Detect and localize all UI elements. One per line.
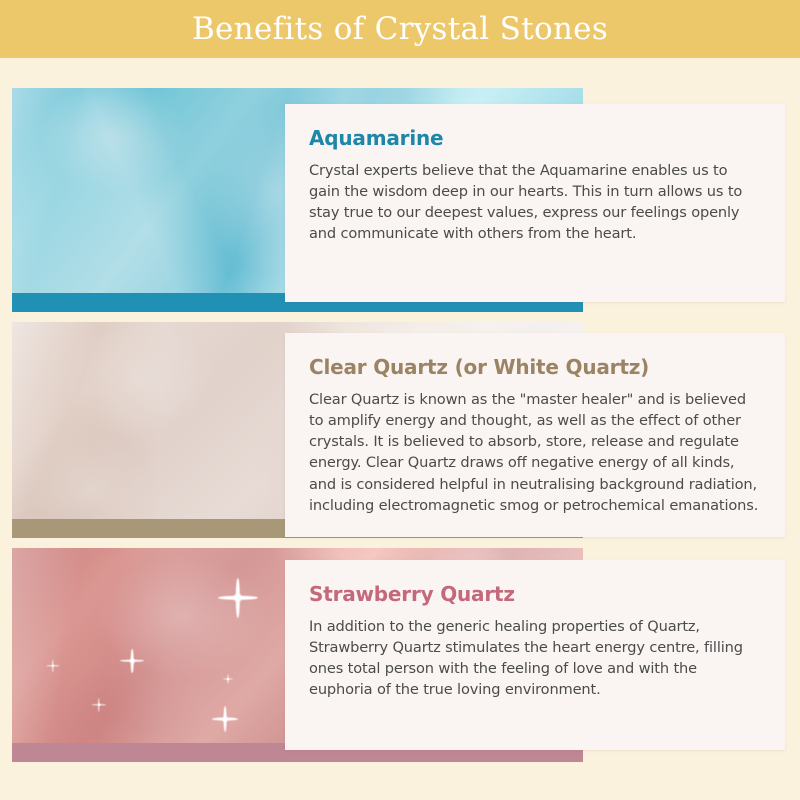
clear-quartz-heading: Clear Quartz (or White Quartz): [309, 355, 761, 379]
strawberry-quartz-description: In addition to the generic healing prope…: [309, 616, 761, 701]
aquamarine-text-panel: Aquamarine Crystal experts believe that …: [285, 104, 785, 302]
header-banner: Benefits of Crystal Stones: [0, 0, 800, 58]
card-strawberry-quartz: Strawberry Quartz In addition to the gen…: [0, 548, 800, 764]
page-title: Benefits of Crystal Stones: [192, 14, 608, 45]
card-aquamarine: Aquamarine Crystal experts believe that …: [0, 88, 800, 318]
clear-quartz-description: Clear Quartz is known as the "master hea…: [309, 389, 761, 516]
strawberry-quartz-text-panel: Strawberry Quartz In addition to the gen…: [285, 560, 785, 750]
infographic-page: Benefits of Crystal Stones Aquamarine Cr…: [0, 0, 800, 800]
aquamarine-description: Crystal experts believe that the Aquamar…: [309, 160, 761, 245]
strawberry-quartz-heading: Strawberry Quartz: [309, 582, 761, 606]
aquamarine-heading: Aquamarine: [309, 126, 761, 150]
card-clear-quartz: Clear Quartz (or White Quartz) Clear Qua…: [0, 322, 800, 544]
clear-quartz-text-panel: Clear Quartz (or White Quartz) Clear Qua…: [285, 333, 785, 537]
